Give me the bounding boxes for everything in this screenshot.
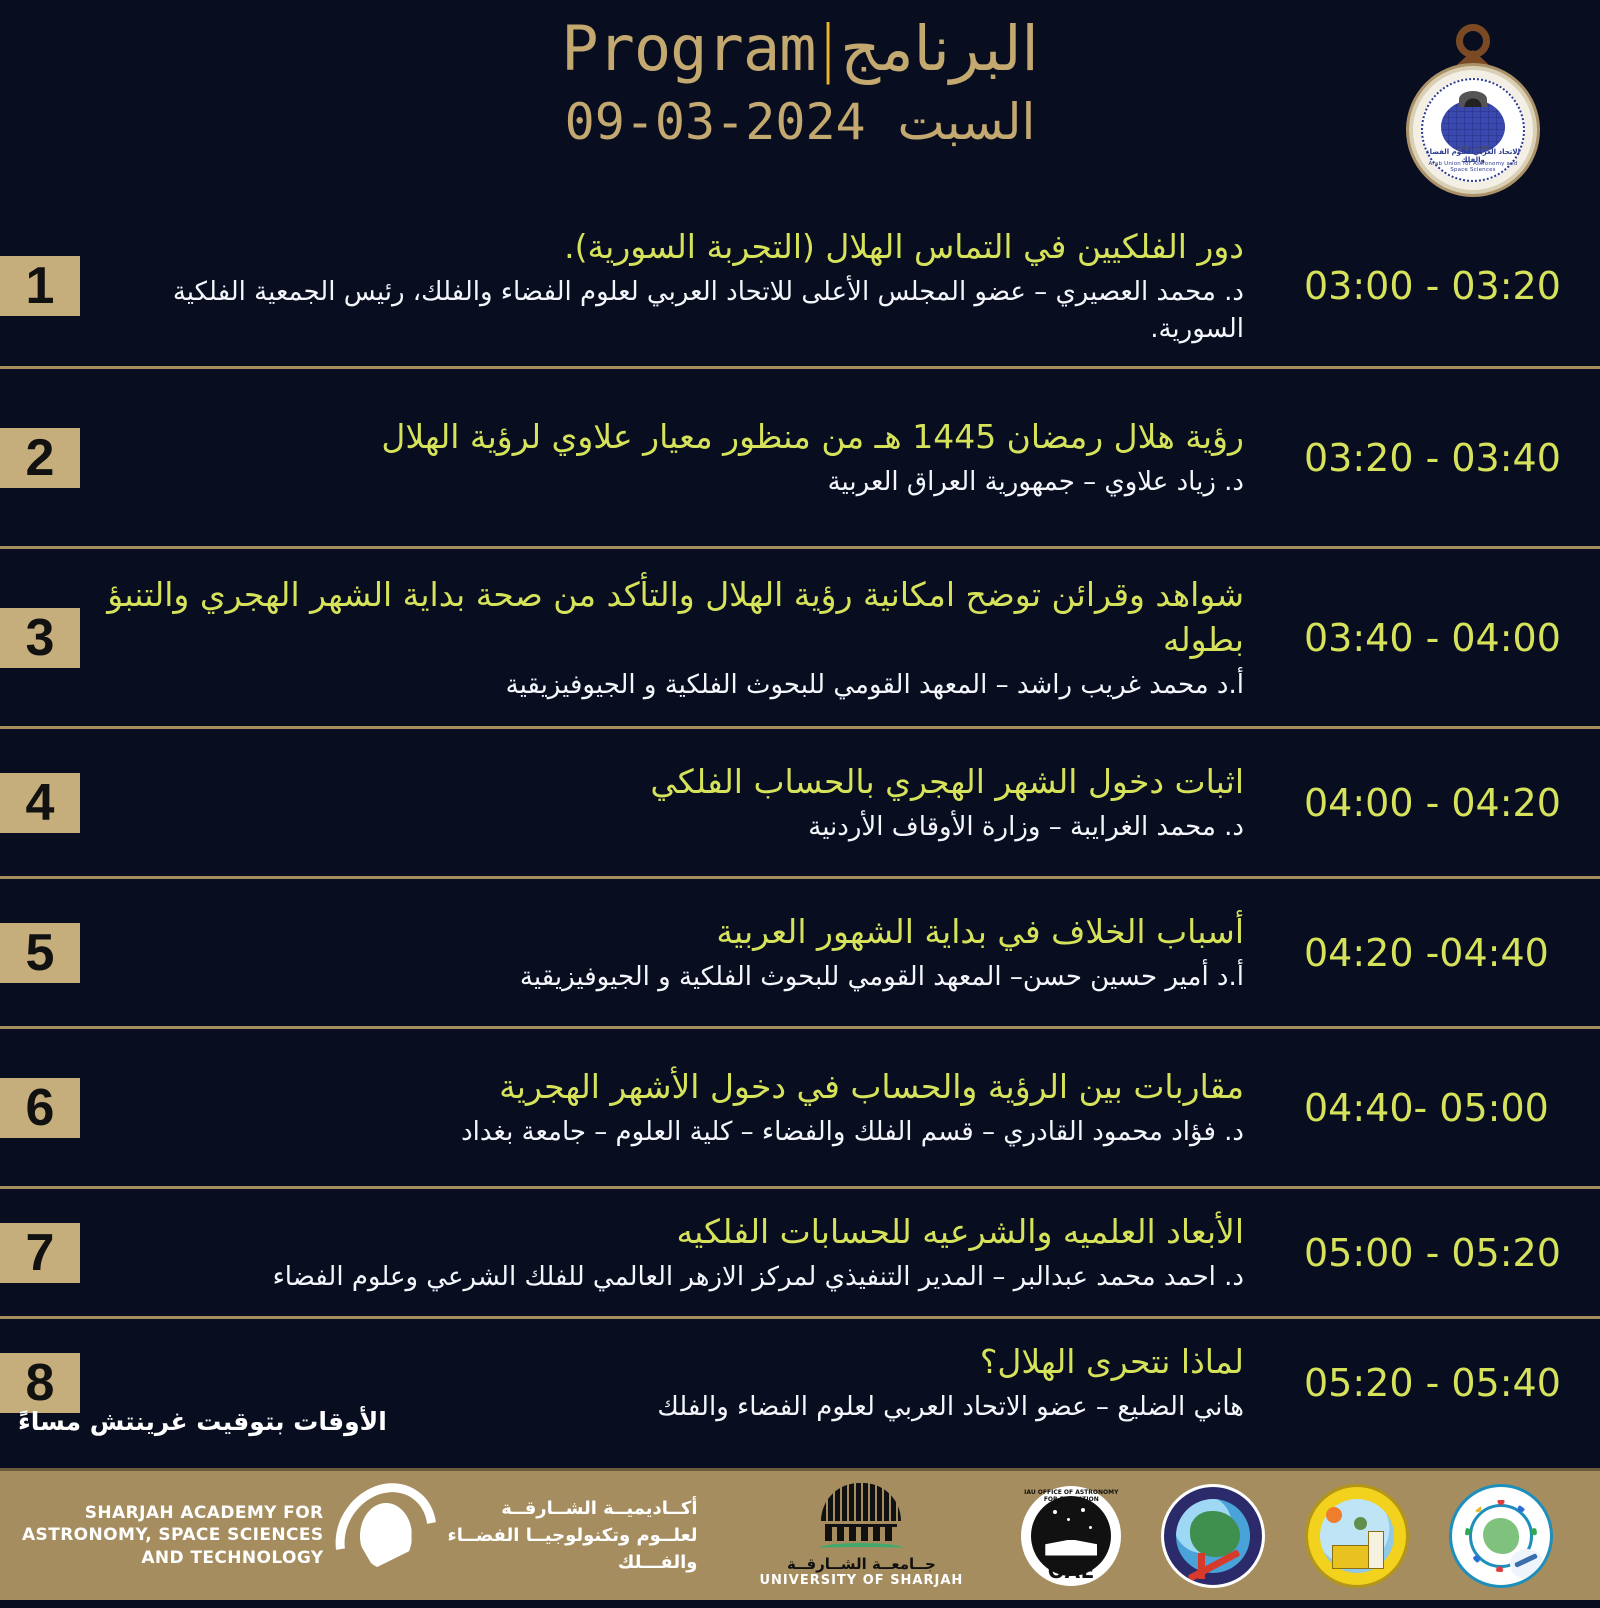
schedule-table: 1 دور الفلكيين في التماس الهلال (التجربة… xyxy=(0,206,1600,1438)
session-number-badge: 4 xyxy=(0,773,80,833)
sun-icon xyxy=(1326,1507,1342,1523)
session-number-badge: 6 xyxy=(0,1078,80,1138)
session-time-cell: 05:00 - 05:20 xyxy=(1270,1189,1600,1316)
sharjah-academy-arabic-text: أكــاديميــة الشــارقــة لعلــوم وتكنولو… xyxy=(448,1495,698,1576)
session-number-cell: 2 xyxy=(0,369,96,546)
session-time: 03:00 - 03:20 xyxy=(1304,264,1561,308)
saast-en-line2: ASTRONOMY, SPACE SCIENCES xyxy=(22,1524,324,1546)
sharjah-academy-logo: SHARJAH ACADEMY FOR ASTRONOMY, SPACE SCI… xyxy=(22,1481,698,1591)
page-title-arabic: البرنامج xyxy=(840,12,1038,85)
star-icon xyxy=(1089,1526,1092,1529)
observatory-tower-icon xyxy=(1368,1531,1384,1569)
green-arc-icon xyxy=(819,1543,903,1553)
session-speaker: د. محمد الغرايبة – وزارة الأوقاف الأردني… xyxy=(96,809,1244,846)
session-time: 05:20 - 05:40 xyxy=(1304,1361,1561,1405)
table-row: 6 مقاربات بين الرؤية والحساب في دخول الأ… xyxy=(0,1026,1600,1186)
table-row: 3 شواهد وقرائن توضح امكانية رؤية الهلال … xyxy=(0,546,1600,726)
session-time-cell: 03:40 - 04:00 xyxy=(1270,549,1600,726)
timezone-footnote: الأوقات بتوقيت غرينتش مساءً xyxy=(18,1407,387,1436)
header-title-block: البرنامج|Program السبت 2024-03-09 xyxy=(0,14,1600,150)
page-title: البرنامج|Program xyxy=(0,14,1600,83)
nriag-sky-disc-icon xyxy=(1320,1499,1394,1573)
dome-icon xyxy=(821,1483,901,1521)
date-label: 2024-03-09 xyxy=(565,93,866,151)
session-time-cell: 04:00 - 04:20 xyxy=(1270,729,1600,876)
planet-icon xyxy=(1354,1517,1367,1530)
session-title: لماذا نتحرى الهلال؟ xyxy=(96,1339,1244,1385)
session-number-cell: 4 xyxy=(0,729,96,876)
page-header: البرنامج|Program السبت 2024-03-09 1408هـ… xyxy=(0,0,1600,200)
table-row: 4 اثبات دخول الشهر الهجري بالحساب الفلكي… xyxy=(0,726,1600,876)
session-number-badge: 1 xyxy=(0,256,80,316)
open-book-icon xyxy=(1045,1540,1097,1556)
arab-society-astronomy-logo xyxy=(1449,1484,1553,1588)
session-number-cell: 3 xyxy=(0,549,96,726)
session-number-cell: 7 xyxy=(0,1189,96,1316)
title-separator: | xyxy=(815,12,840,85)
session-time-cell: 05:20 - 05:40 xyxy=(1270,1319,1600,1446)
table-row: 5 أسباب الخلاف في بداية الشهور العربية أ… xyxy=(0,876,1600,1026)
columns-icon xyxy=(825,1524,897,1541)
page-subtitle: السبت 2024-03-09 xyxy=(0,95,1600,150)
session-speaker: أ.د محمد غريب راشد – المعهد القومي للبحو… xyxy=(96,667,1244,704)
session-time-cell: 03:00 - 03:20 xyxy=(1270,206,1600,366)
session-title: اثبات دخول الشهر الهجري بالحساب الفلكي xyxy=(96,759,1244,805)
arab-regional-office-logo xyxy=(1161,1484,1265,1588)
session-time-cell: 04:40- 05:00 xyxy=(1270,1029,1600,1186)
session-time-cell: 04:20 -04:40 xyxy=(1270,879,1600,1026)
medallion-disc: 1408هـ / 1988 الاتحاد العربي لعلوم الفضا… xyxy=(1409,66,1537,194)
session-time: 04:20 -04:40 xyxy=(1304,931,1549,975)
session-content: أسباب الخلاف في بداية الشهور العربية أ.د… xyxy=(96,879,1270,1026)
spiral-galaxy-icon xyxy=(338,1481,434,1591)
uos-arabic-name: جــامعــة الشــارقــة xyxy=(787,1555,936,1573)
table-row: 1 دور الفلكيين في التماس الهلال (التجربة… xyxy=(0,206,1600,366)
sharjah-academy-english-text: SHARJAH ACADEMY FOR ASTRONOMY, SPACE SCI… xyxy=(22,1502,324,1568)
star-icon xyxy=(1081,1508,1085,1512)
session-speaker: د. فؤاد محمود القادري – قسم الفلك والفضا… xyxy=(96,1114,1244,1151)
page-title-english: Program xyxy=(561,12,815,85)
session-content: الأبعاد العلميه والشرعيه للحسابات الفلكي… xyxy=(96,1189,1270,1316)
session-number-badge: 2 xyxy=(0,428,80,488)
session-title: شواهد وقرائن توضح امكانية رؤية الهلال وا… xyxy=(96,572,1244,663)
session-time: 04:00 - 04:20 xyxy=(1304,781,1561,825)
session-title: مقاربات بين الرؤية والحساب في دخول الأشه… xyxy=(96,1064,1244,1110)
session-number-badge: 5 xyxy=(0,923,80,983)
star-icon xyxy=(1053,1510,1057,1514)
session-number-cell: 6 xyxy=(0,1029,96,1186)
nriag-logo xyxy=(1305,1484,1409,1588)
session-content: رؤية هلال رمضان 1445 هـ من منظور معيار ع… xyxy=(96,369,1270,546)
saast-ar-line2: لعلــوم وتكنولوجيــا الفضــاء xyxy=(448,1522,698,1549)
session-number-cell: 1 xyxy=(0,206,96,366)
saast-en-line3: AND TECHNOLOGY xyxy=(22,1547,324,1569)
session-time: 03:20 - 03:40 xyxy=(1304,436,1561,480)
table-row: 2 رؤية هلال رمضان 1445 هـ من منظور معيار… xyxy=(0,366,1600,546)
telescope-tripod-icon xyxy=(1198,1553,1205,1579)
session-title: دور الفلكيين في التماس الهلال (التجربة ا… xyxy=(96,224,1244,270)
saast-ar-line3: والفـــلك xyxy=(448,1549,698,1576)
university-of-sharjah-logo: جــامعــة الشــارقــة UNIVERSITY OF SHAR… xyxy=(760,1483,964,1588)
session-content: اثبات دخول الشهر الهجري بالحساب الفلكي د… xyxy=(96,729,1270,876)
session-number-badge: 3 xyxy=(0,608,80,668)
session-speaker: د. احمد محمد عبدالبر – المدير التنفيذي ل… xyxy=(96,1259,1244,1296)
session-time: 04:40- 05:00 xyxy=(1304,1086,1549,1130)
session-number-badge: 7 xyxy=(0,1223,80,1283)
sponsor-footer: SHARJAH ACADEMY FOR ASTRONOMY, SPACE SCI… xyxy=(0,1468,1600,1600)
oae-label: OAE xyxy=(1021,1559,1121,1583)
session-title: الأبعاد العلميه والشرعيه للحسابات الفلكي… xyxy=(96,1209,1244,1255)
session-title: أسباب الخلاف في بداية الشهور العربية xyxy=(96,909,1244,955)
oae-logo: IAU OFFICE OF ASTRONOMY FOR EDUCATION OA… xyxy=(1021,1486,1121,1586)
session-number-cell: 5 xyxy=(0,879,96,1026)
session-time-cell: 03:20 - 03:40 xyxy=(1270,369,1600,546)
session-time: 05:00 - 05:20 xyxy=(1304,1231,1561,1275)
star-icon xyxy=(1067,1518,1070,1521)
session-speaker: د. محمد العصيري – عضو المجلس الأعلى للات… xyxy=(96,274,1244,348)
telescope-badge-icon xyxy=(1510,1549,1544,1579)
saast-ar-line1: أكــاديميــة الشــارقــة xyxy=(448,1495,698,1522)
weekday-label: السبت xyxy=(897,93,1035,151)
session-content: شواهد وقرائن توضح امكانية رؤية الهلال وا… xyxy=(96,549,1270,726)
session-title: رؤية هلال رمضان 1445 هـ من منظور معيار ع… xyxy=(96,414,1244,460)
session-speaker: د. زياد علاوي – جمهورية العراق العربية xyxy=(96,464,1244,501)
session-number-badge: 8 xyxy=(0,1353,80,1413)
table-row: 7 الأبعاد العلميه والشرعيه للحسابات الفل… xyxy=(0,1186,1600,1316)
uos-english-name: UNIVERSITY OF SHARJAH xyxy=(760,1573,964,1588)
session-content: مقاربات بين الرؤية والحساب في دخول الأشه… xyxy=(96,1029,1270,1186)
saast-en-line1: SHARJAH ACADEMY FOR xyxy=(22,1502,324,1524)
session-time: 03:40 - 04:00 xyxy=(1304,616,1561,660)
arab-union-logo: 1408هـ / 1988 الاتحاد العربي لعلوم الفضا… xyxy=(1408,22,1538,200)
session-content: دور الفلكيين في التماس الهلال (التجربة ا… xyxy=(96,206,1270,366)
medallion-inner: 1408هـ / 1988 الاتحاد العربي لعلوم الفضا… xyxy=(1421,78,1525,182)
session-speaker: أ.د أمير حسين حسن– المعهد القومي للبحوث … xyxy=(96,959,1244,996)
medallion-text-english: Arab Union for Astronomy and Space Scien… xyxy=(1423,161,1523,173)
